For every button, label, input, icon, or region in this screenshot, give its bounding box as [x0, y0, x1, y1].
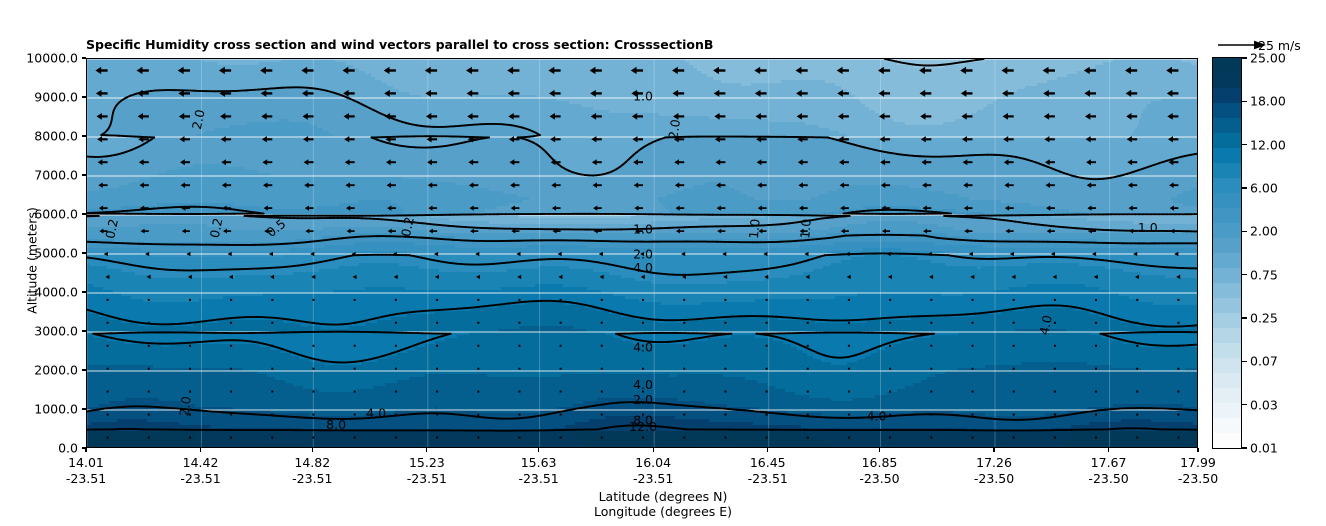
y-axis-tick-mark [82, 96, 86, 97]
colorbar-tick-label: 25.00 [1250, 51, 1286, 66]
x-axis-tick-mark [767, 448, 768, 452]
colorbar-band [1213, 178, 1241, 193]
colorbar-band [1213, 148, 1241, 163]
colorbar-tick-mark [1242, 404, 1247, 405]
x-axis-tick-label: 14.82-23.51 [292, 455, 332, 487]
x-axis-tick-mark [653, 448, 654, 452]
x-axis-tick-label: 14.42-23.51 [180, 455, 220, 487]
colorbar-band [1213, 118, 1241, 133]
x-axis-tick-mark [426, 448, 427, 452]
colorbar-tick-mark [1242, 274, 1247, 275]
x-axis-label-longitude: Longitude (degrees E) [0, 504, 1326, 519]
x-tick-latitude: 17.67 [1091, 455, 1127, 470]
colorbar-tick-mark [1242, 361, 1247, 362]
y-axis-label: Altitude (meters) [25, 171, 40, 351]
colorbar-band [1213, 163, 1241, 178]
colorbar-band [1213, 88, 1241, 103]
x-axis-tick-mark [1108, 448, 1109, 452]
y-axis-tick-label: 1000.0 [0, 402, 78, 417]
x-tick-longitude: -23.50 [859, 471, 899, 486]
y-axis-tick-mark [82, 291, 86, 292]
x-axis-tick-mark [312, 448, 313, 452]
x-axis-tick-label: 15.63-23.51 [518, 455, 558, 487]
x-tick-latitude: 16.45 [750, 455, 786, 470]
x-axis-tick-label: 16.85-23.50 [859, 455, 899, 487]
y-axis-tick-label: 2000.0 [0, 363, 78, 378]
colorbar-band [1213, 358, 1241, 373]
y-axis-tick-mark [82, 174, 86, 175]
y-axis-tick-mark [82, 408, 86, 409]
colorbar-band [1213, 433, 1241, 448]
colorbar-tick-mark [1242, 231, 1247, 232]
x-tick-latitude: 14.01 [68, 455, 104, 470]
y-axis-tick-label: 0.0 [0, 441, 78, 456]
colorbar-band [1213, 283, 1241, 298]
x-axis-tick-label: 15.23-23.51 [407, 455, 447, 487]
y-axis-tick-label: 9000.0 [0, 90, 78, 105]
y-axis-tick-mark [82, 252, 86, 253]
colorbar-band [1213, 208, 1241, 223]
x-tick-longitude: -23.50 [974, 471, 1014, 486]
x-tick-longitude: -23.51 [633, 471, 673, 486]
x-axis-tick-label: 16.45-23.51 [748, 455, 788, 487]
x-axis-tick-mark [879, 448, 880, 452]
y-axis-tick-mark [82, 135, 86, 136]
colorbar-tick-mark [1242, 447, 1247, 448]
colorbar [1212, 57, 1242, 449]
x-axis-tick-mark [538, 448, 539, 452]
colorbar-tick-label: 0.07 [1250, 354, 1278, 369]
colorbar-tick-label: 0.25 [1250, 311, 1278, 326]
colorbar-tick-label: 0.75 [1250, 267, 1278, 282]
colorbar-band [1213, 403, 1241, 418]
x-tick-longitude: -23.50 [1088, 471, 1128, 486]
x-tick-longitude: -23.51 [518, 471, 558, 486]
x-tick-latitude: 15.23 [409, 455, 445, 470]
x-tick-longitude: -23.50 [1178, 471, 1218, 486]
x-tick-latitude: 15.63 [521, 455, 557, 470]
x-tick-longitude: -23.51 [292, 471, 332, 486]
colorbar-tick-label: 6.00 [1250, 181, 1278, 196]
x-tick-longitude: -23.51 [180, 471, 220, 486]
x-tick-latitude: 17.26 [976, 455, 1012, 470]
x-tick-latitude: 16.85 [862, 455, 898, 470]
colorbar-band [1213, 223, 1241, 238]
colorbar-tick-mark [1242, 187, 1247, 188]
y-axis-tick-label: 10000.0 [0, 51, 78, 66]
x-axis-tick-label: 16.04-23.51 [633, 455, 673, 487]
colorbar-band [1213, 328, 1241, 343]
title-line-1: Specific Humidity cross section and wind… [86, 37, 713, 53]
colorbar-tick-label: 12.00 [1250, 137, 1286, 152]
humidity-cross-section-plot: 2.00.20.20.20.51.01.02.04.02.01.01.01.04… [86, 58, 1198, 448]
x-tick-latitude: 16.04 [635, 455, 671, 470]
colorbar-band [1213, 373, 1241, 388]
x-tick-longitude: -23.51 [748, 471, 788, 486]
colorbar-band [1213, 193, 1241, 208]
x-axis-label-latitude: Latitude (degrees N) [0, 489, 1326, 504]
colorbar-band [1213, 253, 1241, 268]
colorbar-tick-mark [1242, 317, 1247, 318]
colorbar-tick-label: 0.03 [1250, 397, 1278, 412]
colorbar-tick-label: 0.01 [1250, 441, 1278, 456]
colorbar-band [1213, 73, 1241, 88]
colorbar-band [1213, 238, 1241, 253]
x-tick-latitude: 14.42 [183, 455, 219, 470]
y-axis-tick-mark [82, 57, 86, 58]
colorbar-band [1213, 298, 1241, 313]
x-tick-latitude: 14.82 [294, 455, 330, 470]
colorbar-band [1213, 418, 1241, 433]
y-axis-tick-mark [82, 369, 86, 370]
x-tick-latitude: 17.99 [1180, 455, 1216, 470]
y-axis-tick-mark [82, 213, 86, 214]
y-axis-tick-label: 8000.0 [0, 129, 78, 144]
x-axis-tick-mark [993, 448, 994, 452]
colorbar-band [1213, 133, 1241, 148]
colorbar-band [1213, 58, 1241, 73]
x-tick-longitude: -23.51 [407, 471, 447, 486]
colorbar-band [1213, 388, 1241, 403]
x-axis-tick-label: 17.99-23.50 [1178, 455, 1218, 487]
colorbar-band [1213, 313, 1241, 328]
colorbar-band [1213, 343, 1241, 358]
colorbar-tick-mark [1242, 144, 1247, 145]
colorbar-band [1213, 268, 1241, 283]
colorbar-tick-label: 2.00 [1250, 224, 1278, 239]
y-axis-tick-mark [82, 330, 86, 331]
x-tick-longitude: -23.51 [66, 471, 106, 486]
x-axis-tick-label: 17.26-23.50 [974, 455, 1014, 487]
colorbar-band [1213, 103, 1241, 118]
x-axis-tick-mark [85, 448, 86, 452]
colorbar-tick-label: 18.00 [1250, 94, 1286, 109]
colorbar-tick-mark [1242, 57, 1247, 58]
x-axis-tick-mark [1197, 448, 1198, 452]
x-axis-tick-label: 14.01-23.51 [66, 455, 106, 487]
x-axis-tick-label: 17.67-23.50 [1088, 455, 1128, 487]
colorbar-tick-mark [1242, 101, 1247, 102]
x-axis-tick-mark [200, 448, 201, 452]
